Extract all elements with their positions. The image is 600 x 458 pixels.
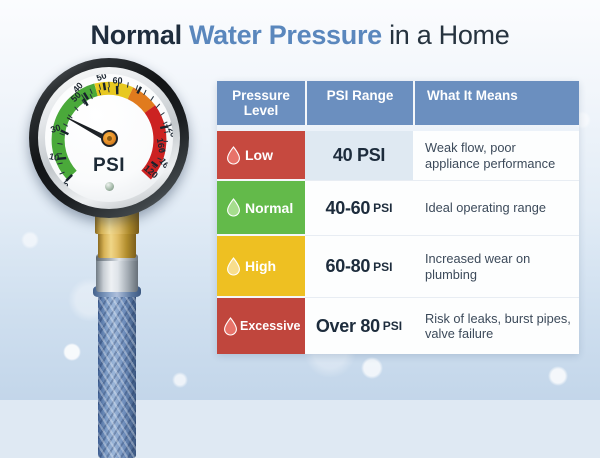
meaning-text: Risk of leaks, burst pipes, valve failur… (425, 311, 571, 342)
title-part-in-a-home: in a Home (382, 20, 510, 50)
svg-text:60: 60 (112, 75, 122, 85)
pressure-gauge-illustration: 0 10 30 50 60 (20, 58, 200, 400)
table-header-what-it-means: What It Means (413, 81, 579, 125)
water-drop-icon (226, 146, 241, 165)
psi-range-value: 60-80 (326, 256, 371, 277)
table-row: Excessive Over 80 PSI Risk of leaks, bur… (217, 298, 579, 354)
meaning-text: Ideal operating range (425, 200, 546, 216)
table-row: Normal 40-60 PSI Ideal operating range (217, 181, 579, 236)
svg-text:50: 50 (95, 74, 108, 83)
psi-unit: PSI (373, 260, 392, 274)
table-row: High 60-80 PSI Increased wear on plumbin… (217, 236, 579, 298)
psi-range-value: 40-60 (326, 198, 371, 219)
level-swatch-high: High (217, 236, 305, 298)
table-row: Low 40 PSI Weak flow, poor appliance per… (217, 131, 579, 181)
meaning-cell: Increased wear on plumbing (413, 236, 579, 298)
psi-range-cell: 40-60 PSI (305, 181, 413, 236)
water-drop-icon (223, 317, 238, 336)
level-label: Low (245, 147, 273, 163)
gauge-psi-label: PSI (45, 155, 173, 177)
psi-range-cell: 40 PSI (305, 131, 413, 181)
brass-fitting-lower (98, 232, 136, 258)
meaning-cell: Ideal operating range (413, 181, 579, 236)
gauge-vent-dot (105, 182, 114, 191)
title-part-water-pressure: Water Pressure (189, 20, 382, 50)
svg-text:60: 60 (139, 75, 153, 89)
psi-unit: PSI (373, 201, 392, 215)
meaning-cell: Weak flow, poor appliance performance (413, 131, 579, 181)
level-swatch-normal: Normal (217, 181, 305, 236)
gauge-hub (101, 130, 118, 147)
level-label: High (245, 258, 276, 274)
level-label: Normal (245, 200, 293, 216)
psi-range-cell: 60-80 PSI (305, 236, 413, 298)
psi-range-value: Over 80 (316, 316, 380, 337)
pressure-table: Pressure Level PSI Range What It Means L… (217, 81, 579, 354)
level-swatch-excessive: Excessive (217, 298, 305, 354)
braided-hose (98, 288, 136, 458)
level-label: Excessive (240, 319, 300, 333)
water-drop-icon (226, 198, 241, 217)
table-header-row: Pressure Level PSI Range What It Means (217, 81, 579, 125)
meaning-text: Weak flow, poor appliance performance (425, 140, 571, 171)
meaning-text: Increased wear on plumbing (425, 251, 571, 282)
meaning-cell: Risk of leaks, burst pipes, valve failur… (413, 298, 579, 354)
gauge-bezel: 0 10 30 50 60 (29, 58, 189, 218)
table-header-psi-range: PSI Range (305, 81, 413, 125)
table-header-pressure-level: Pressure Level (217, 81, 305, 125)
level-swatch-low: Low (217, 131, 305, 181)
psi-range-text: 40 PSI (333, 145, 385, 166)
water-drop-icon (226, 257, 241, 276)
chrome-coupling (96, 254, 138, 292)
svg-text:0: 0 (60, 181, 70, 192)
gauge-dial-face: 0 10 30 50 60 (45, 74, 173, 202)
gauge-bezel-inner: 0 10 30 50 60 (38, 67, 180, 209)
psi-unit: PSI (383, 319, 402, 333)
page-title: Normal Water Pressure in a Home (0, 18, 600, 52)
psi-range-cell: Over 80 PSI (305, 298, 413, 354)
title-part-normal: Normal (91, 20, 189, 50)
